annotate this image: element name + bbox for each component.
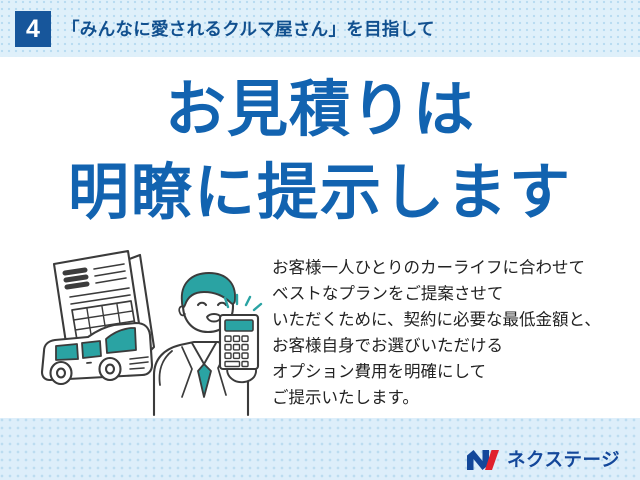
body-line: オプション費用を明確にして — [272, 359, 622, 385]
body-line: ご提示いたします。 — [272, 385, 622, 411]
promo-banner: 4 「みんなに愛されるクルマ屋さん」を目指して お見積りは 明瞭に提示します — [0, 0, 640, 480]
body-copy: お客様一人ひとりのカーライフに合わせて ベストなプランをご提案させて いただくた… — [272, 255, 622, 411]
headline-line-1: お見積りは — [0, 79, 640, 140]
nextage-n-mark-icon — [466, 449, 500, 471]
brand-logo: ネクステージ — [466, 448, 620, 472]
salesman-illustration — [32, 247, 270, 422]
van-illustration — [42, 323, 152, 384]
body-line: お客様一人ひとりのカーライフに合わせて — [272, 255, 622, 281]
header-band: 4 「みんなに愛されるクルマ屋さん」を目指して — [0, 0, 640, 57]
body-line: ベストなプランをご提案させて — [272, 281, 622, 307]
header-title: 「みんなに愛されるクルマ屋さん」を目指して — [62, 0, 435, 57]
calculator-illustration — [220, 315, 258, 369]
body-line: いただくために、契約に必要な最低金額と、 — [272, 307, 622, 333]
main-content: お見積りは 明瞭に提示します — [0, 57, 640, 418]
headline-line-2: 明瞭に提示します — [0, 162, 640, 223]
section-number-badge: 4 — [15, 11, 51, 47]
body-line: お客様自身でお選びいただける — [272, 333, 622, 359]
brand-name: ネクステージ — [507, 451, 620, 470]
